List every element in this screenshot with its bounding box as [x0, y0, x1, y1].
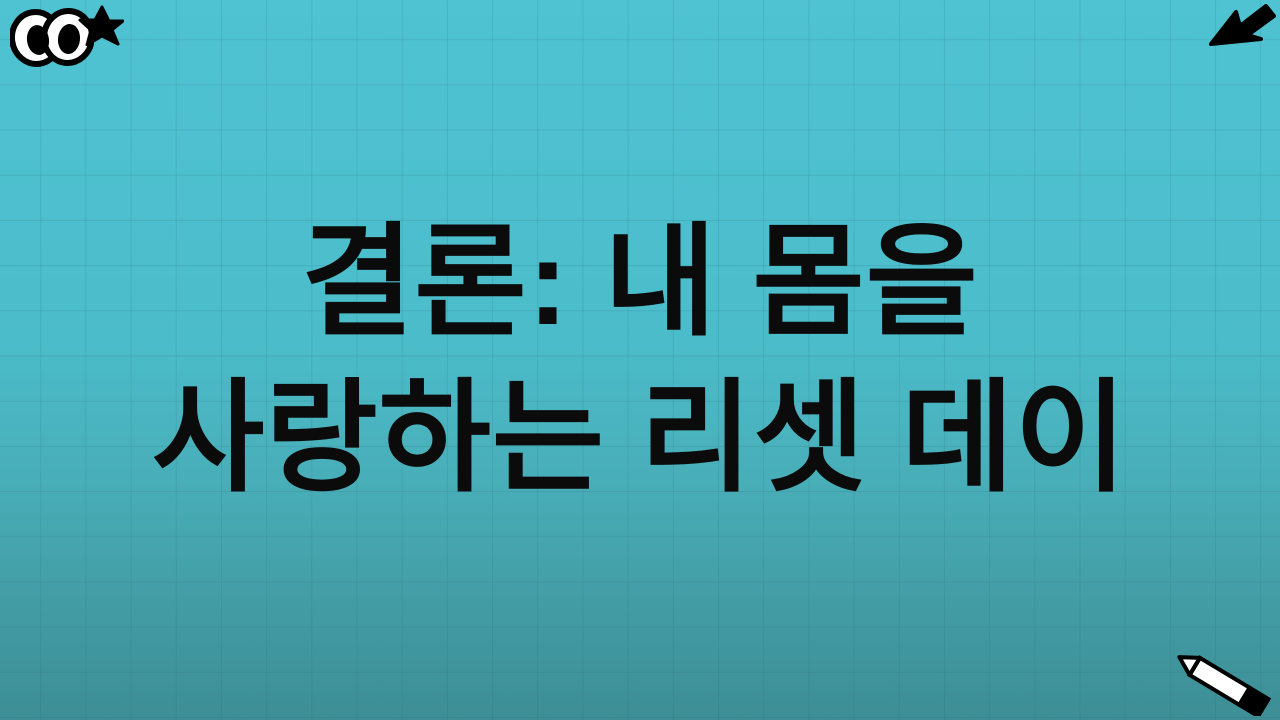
slide-canvas: 결론: 내 몸을 사랑하는 리셋 데이 — [0, 0, 1280, 720]
star-icon — [78, 4, 124, 46]
background-grid-pattern — [0, 0, 1280, 720]
pencil-icon — [1163, 646, 1279, 716]
arrow-icon — [1206, 4, 1276, 52]
